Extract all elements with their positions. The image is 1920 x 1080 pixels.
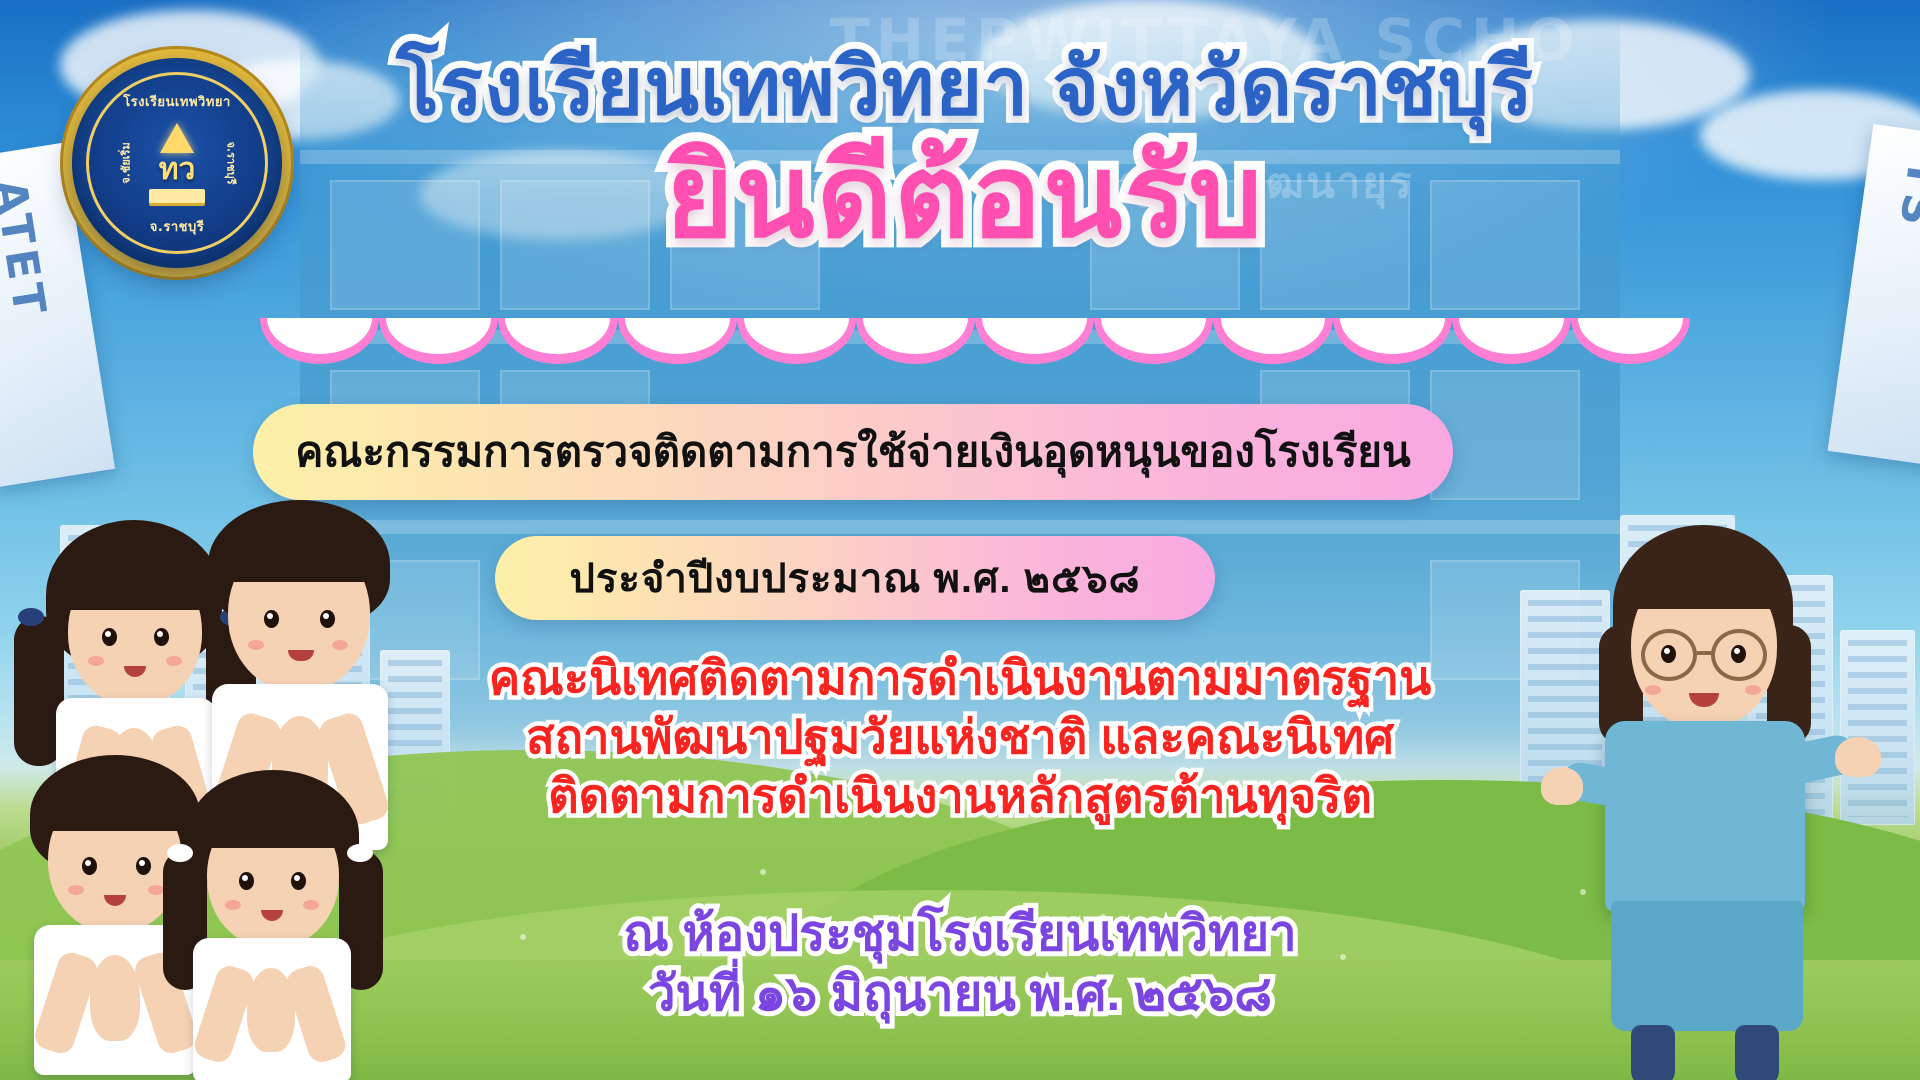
welcome-title: ยินดีต้อนรับ: [300, 136, 1630, 258]
school-title: โรงเรียนเทพวิทยา จังหวัดราชบุรี: [300, 44, 1630, 130]
grass-speck: [760, 869, 766, 875]
supervision-line-2: สถานพัฒนาปฐมวัยแห่งชาติ และคณะนิเทศ: [330, 707, 1590, 766]
committee-pill: คณะกรรมการตรวจติดตามการใช้จ่ายเงินอุดหนุ…: [253, 404, 1453, 500]
venue-date-block: ณ ห้องประชุมโรงเรียนเทพวิทยา วันที่ ๑๖ ม…: [330, 905, 1590, 1025]
school-logo-side-right: จ.ราชบุรี: [222, 141, 240, 184]
supervision-text-block: คณะนิเทศติดตามการดำเนินงานตามมาตรฐาน สถา…: [330, 648, 1590, 826]
building-window: [1430, 370, 1580, 500]
school-logo-arc-bottom: จ.ราชบุรี: [89, 216, 265, 237]
side-flag-right-text: TS: [1889, 156, 1920, 234]
school-logo-inner: โรงเรียนเทพวิทยา ทว จ.ราชบุรี จ.ชัยเริ่ม…: [86, 72, 268, 254]
building-ledge: [300, 330, 1620, 344]
supervision-line-3: ติดตามการดำเนินงานหลักสูตรต้านทุจริต: [330, 766, 1590, 825]
heading-group: โรงเรียนเทพวิทยา จังหวัดราชบุรี ยินดีต้อ…: [300, 44, 1630, 258]
committee-pill-text: คณะกรรมการตรวจติดตามการใช้จ่ายเงินอุดหนุ…: [295, 419, 1410, 485]
student-girl-small: [165, 770, 380, 1080]
book-icon: [149, 189, 205, 203]
school-logo-side-left: จ.ชัยเริ่ม: [117, 142, 135, 183]
venue-line: ณ ห้องประชุมโรงเรียนเทพวิทยา: [330, 905, 1590, 965]
school-logo-arc-top: โรงเรียนเทพวิทยา: [89, 91, 265, 112]
date-line: วันที่ ๑๖ มิถุนายน พ.ศ. ๒๕๖๘: [330, 965, 1590, 1025]
budget-year-pill-text: ประจำปีงบประมาณ พ.ศ. ๒๕๖๘: [570, 546, 1141, 610]
budget-year-pill: ประจำปีงบประมาณ พ.ศ. ๒๕๖๘: [495, 536, 1215, 620]
school-logo: โรงเรียนเทพวิทยา ทว จ.ราชบุรี จ.ชัยเริ่ม…: [72, 58, 282, 268]
flame-icon: [160, 123, 194, 153]
side-flag-left-text: ATET: [0, 176, 56, 323]
teacher-character: [1535, 525, 1865, 1080]
supervision-line-1: คณะนิเทศติดตามการดำเนินงานตามมาตรฐาน: [330, 648, 1590, 707]
school-logo-monogram: ทว: [159, 155, 196, 185]
welcome-banner: THEPWITTAYA SCHO ปัญญา พัฒนายุร ATET TS: [0, 0, 1920, 1080]
